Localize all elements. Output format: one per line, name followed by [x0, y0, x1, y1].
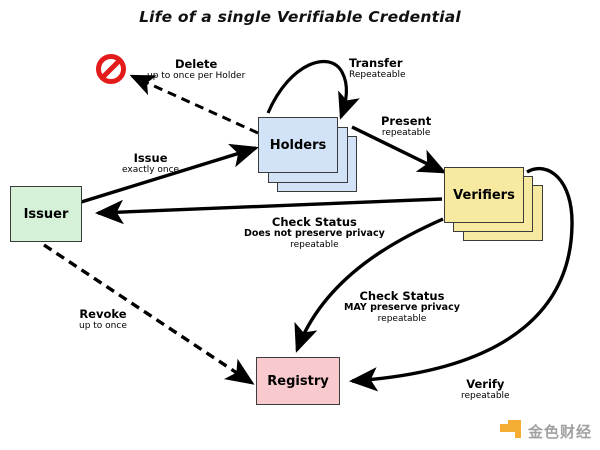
edge-transfer-arrow [268, 61, 346, 117]
edge-label-issue: Issue exactly once [122, 152, 179, 175]
edge-delete-arrow [132, 76, 258, 133]
edge-label-transfer: Transfer Repeateable [349, 57, 405, 80]
edge-label-revoke-title: Revoke [79, 308, 127, 321]
node-registry[interactable]: Registry [256, 357, 340, 405]
edge-revoke-arrow [44, 245, 252, 383]
node-registry-label: Registry [267, 374, 328, 389]
edge-label-check-status-registry: Check Status MAY preserve privacy repeat… [344, 290, 460, 324]
watermark-logo-icon [500, 420, 522, 442]
edge-label-present: Present repeatable [381, 115, 431, 138]
edge-label-check-status-registry-title: Check Status [344, 290, 460, 303]
edge-label-delete: Delete up to once per Holder [147, 58, 245, 81]
edge-label-transfer-title: Transfer [349, 57, 405, 70]
node-issuer[interactable]: Issuer [10, 186, 82, 242]
edge-label-verify-title: Verify [461, 378, 510, 391]
edge-label-transfer-sub: Repeateable [349, 70, 405, 80]
edge-label-check-status-registry-sub2: repeatable [344, 314, 460, 324]
edge-label-check-status-issuer: Check Status Does not preserve privacy r… [244, 216, 385, 250]
edge-label-revoke-sub: up to once [79, 321, 127, 331]
edge-label-present-title: Present [381, 115, 431, 128]
diagram-canvas: Life of a single Verifiable Credential [0, 0, 600, 450]
node-issuer-label: Issuer [24, 207, 69, 222]
edge-label-check-status-registry-sub: MAY preserve privacy [344, 303, 460, 314]
edge-label-delete-title: Delete [147, 58, 245, 71]
prohibition-bar [101, 59, 120, 78]
watermark-text: 金色财经 [528, 421, 592, 442]
edge-label-present-sub: repeatable [381, 128, 431, 138]
node-holders[interactable]: Holders [258, 117, 338, 173]
edge-label-check-status-issuer-title: Check Status [244, 216, 385, 229]
edge-label-revoke: Revoke up to once [79, 308, 127, 331]
watermark: 金色财经 [500, 420, 592, 442]
node-holders-label: Holders [270, 138, 327, 153]
prohibition-icon [96, 54, 126, 84]
edge-label-verify-sub: repeatable [461, 391, 510, 401]
node-verifiers-label: Verifiers [453, 188, 515, 203]
edge-label-verify: Verify repeatable [461, 378, 510, 401]
edge-label-issue-title: Issue [122, 152, 179, 165]
edge-label-check-status-issuer-sub2: repeatable [244, 240, 385, 250]
edge-check-status-issuer-arrow [98, 199, 442, 213]
node-verifiers[interactable]: Verifiers [444, 167, 524, 223]
edge-label-issue-sub: exactly once [122, 165, 179, 175]
edge-label-check-status-issuer-sub: Does not preserve privacy [244, 229, 385, 240]
edge-label-delete-sub: up to once per Holder [147, 71, 245, 81]
